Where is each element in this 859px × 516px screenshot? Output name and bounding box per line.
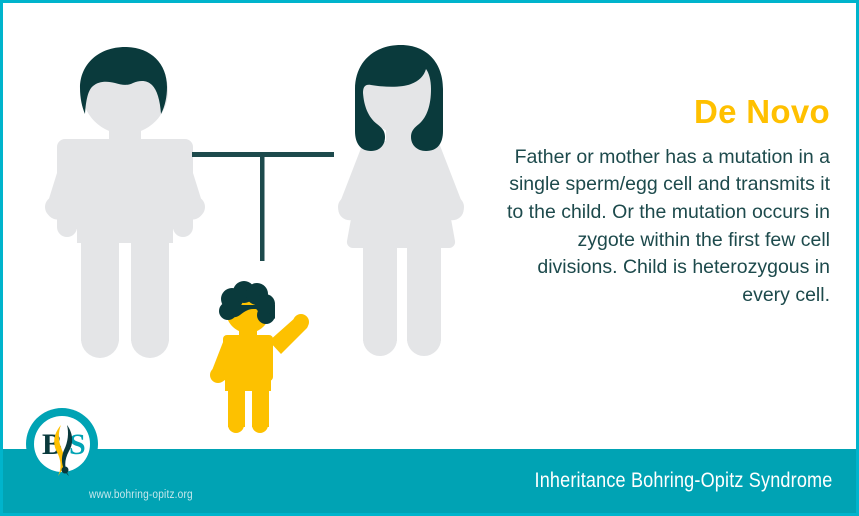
description-text: Father or mother has a mutation in a sin… [492, 144, 830, 310]
pedigree-illustration [3, 3, 503, 455]
mother-figure [321, 35, 483, 365]
connector-vertical-line [260, 155, 265, 261]
father-figure [37, 35, 213, 365]
footer-bar: Inheritance Bohring-Opitz Syndrome www.b… [3, 449, 856, 513]
logo-ribbon-knot [62, 467, 69, 474]
footer-title-label: Inheritance Bohring-Opitz Syndrome [534, 469, 832, 493]
site-url[interactable]: www.bohring-opitz.org [89, 489, 207, 501]
father-body [45, 48, 205, 358]
page-title: De Novo [492, 95, 830, 130]
text-panel: De Novo Father or mother has a mutation … [492, 95, 830, 310]
site-url-label: www.bohring-opitz.org [89, 489, 193, 501]
child-figure [201, 281, 319, 433]
infographic-canvas: De Novo Father or mother has a mutation … [0, 0, 859, 516]
parent-child-connector [188, 148, 338, 263]
bohring-opitz-syndrome-logo[interactable]: B S [25, 407, 99, 481]
footer-title: Inheritance Bohring-Opitz Syndrome [486, 469, 832, 493]
